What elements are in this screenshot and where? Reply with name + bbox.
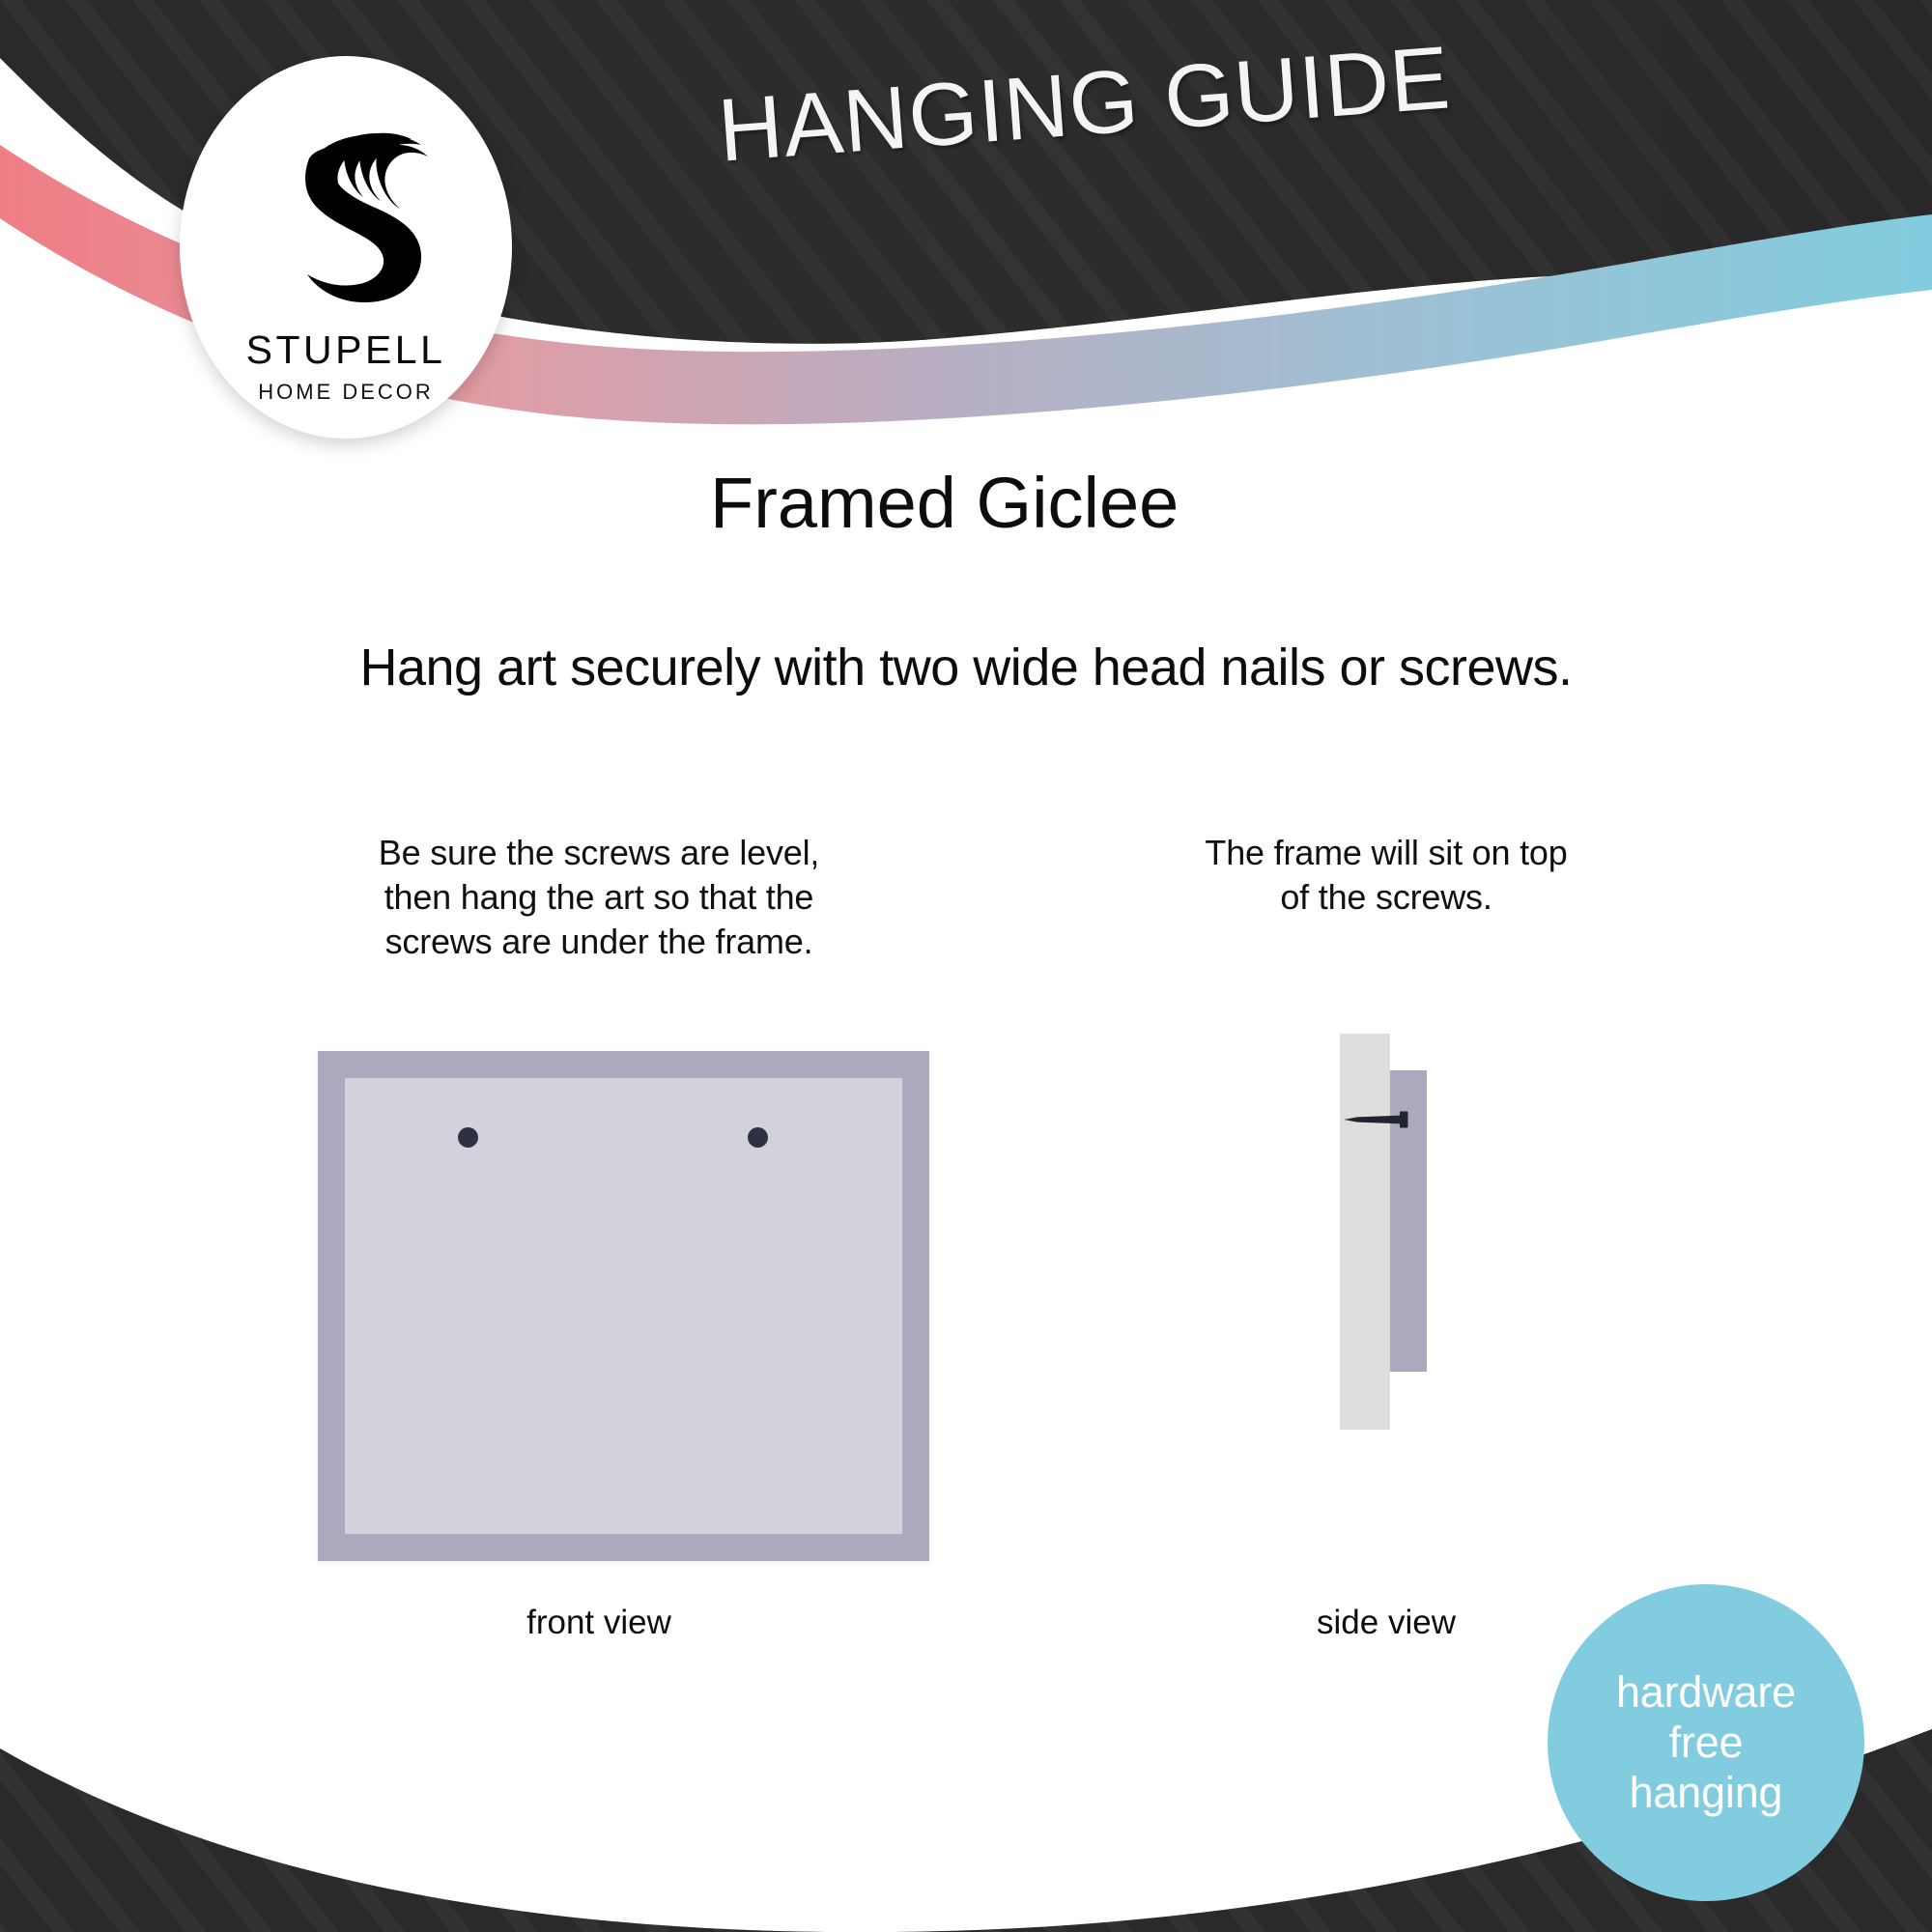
- nail-icon: [1344, 1111, 1413, 1128]
- front-caption-line-1: Be sure the screws are level,: [270, 831, 927, 875]
- screw-dot-right: [748, 1127, 768, 1148]
- front-view-caption: Be sure the screws are level, then hang …: [270, 831, 927, 964]
- badge-line-2: free: [1669, 1718, 1744, 1768]
- side-caption-line-1: The frame will sit on top: [1106, 831, 1666, 875]
- brand-tagline: HOME DECOR: [258, 382, 434, 403]
- hanging-guide-poster: STUPELL HOME DECOR HANGING GUIDE Framed …: [0, 0, 1932, 1932]
- product-type-label: Framed Giclee: [710, 462, 1179, 544]
- brand-name: STUPELL: [246, 330, 446, 370]
- front-view-column: Be sure the screws are level, then hang …: [270, 831, 927, 964]
- side-view-label: side view: [1106, 1604, 1666, 1642]
- front-caption-line-2: then hang the art so that the: [270, 875, 927, 920]
- front-view-mat: [345, 1078, 902, 1534]
- front-view-frame: [318, 1051, 929, 1561]
- screw-dot-left: [458, 1127, 478, 1148]
- diagram-area: Be sure the screws are level, then hang …: [0, 831, 1932, 1700]
- front-view-label: front view: [270, 1604, 927, 1642]
- side-view-wall: [1340, 1034, 1390, 1430]
- badge-line-1: hardware: [1616, 1667, 1796, 1718]
- badge-line-3: hanging: [1630, 1768, 1783, 1818]
- front-caption-line-3: screws are under the frame.: [270, 920, 927, 964]
- page-title: HANGING GUIDE: [715, 27, 1454, 182]
- main-instruction-text: Hang art securely with two wide head nai…: [0, 638, 1932, 697]
- side-caption-line-2: of the screws.: [1106, 875, 1666, 920]
- brand-logo-badge: STUPELL HOME DECOR: [180, 56, 512, 439]
- side-view-caption: The frame will sit on top of the screws.: [1106, 831, 1666, 920]
- stupell-swirl-logo-icon: [259, 116, 433, 325]
- hardware-free-hanging-badge: hardware free hanging: [1548, 1584, 1864, 1901]
- side-view-column: The frame will sit on top of the screws.…: [1106, 831, 1666, 920]
